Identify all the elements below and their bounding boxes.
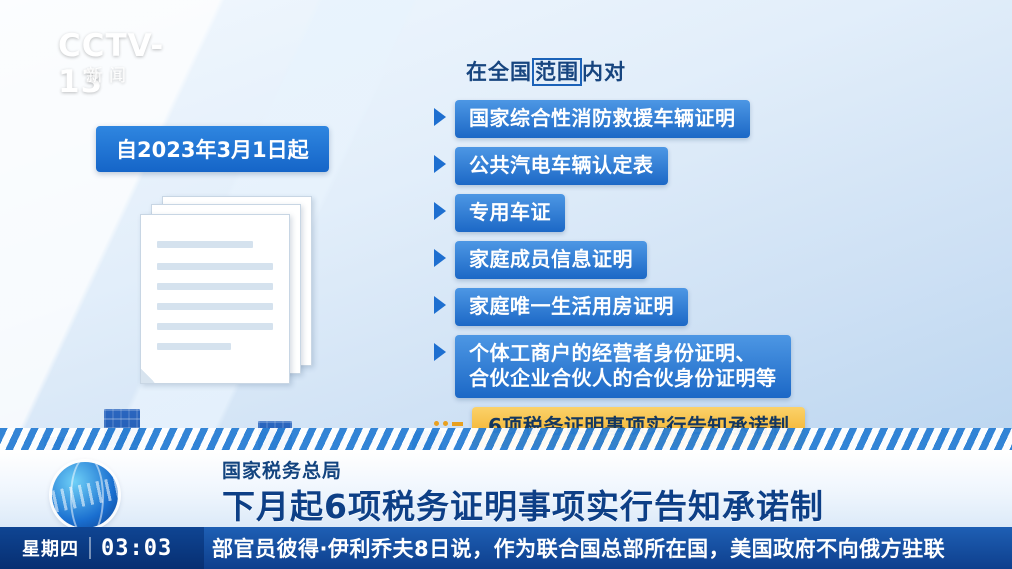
news-ticker: 星期四 03:03 部官员彼得·伊利乔夫8日说，作为联合国总部所在国，美国政府不…: [0, 527, 1012, 569]
lead-suffix: 内对: [582, 60, 626, 84]
ticker-divider: [89, 537, 91, 559]
lead-prefix: 在全国: [466, 60, 532, 84]
channel-logo: CCTV-13 新闻: [58, 28, 208, 82]
list-item: 家庭唯一生活用房证明: [434, 288, 904, 326]
list-item-label: 家庭唯一生活用房证明: [455, 288, 688, 326]
list-item: 家庭成员信息证明: [434, 241, 904, 279]
lead-boxed-word: 范围: [532, 58, 582, 86]
list-item-label: 公共汽电车辆认定表: [455, 147, 668, 185]
ticker-time: 03:03: [101, 536, 172, 561]
triangle-bullet-icon: [434, 343, 446, 361]
date-pill: 自2023年3月1日起: [96, 126, 329, 172]
graphic-item-list: 国家综合性消防救援车辆证明 公共汽电车辆认定表 专用车证 家庭成员信息证明 家庭…: [434, 100, 904, 456]
list-item-label: 专用车证: [455, 194, 565, 232]
lower-third-headline: 下月起6项税务证明事项实行告知承诺制: [222, 480, 824, 528]
ticker-clock-block: 星期四 03:03: [0, 527, 204, 569]
triangle-bullet-icon: [434, 249, 446, 267]
globe-icon: [52, 462, 118, 528]
ticker-weekday: 星期四: [22, 535, 79, 561]
broadcast-screenshot: CCTV-13 新闻 自2023年3月1日起 在全国范围内对 国家综合性消防救援…: [0, 0, 1012, 569]
channel-logo-text: CCTV-13: [58, 28, 208, 100]
triangle-bullet-icon: [434, 108, 446, 126]
list-item: 专用车证: [434, 194, 904, 232]
decorative-stripe-band: [0, 428, 1012, 450]
dotted-leader-icon: [434, 421, 468, 426]
list-item: 国家综合性消防救援车辆证明: [434, 100, 904, 138]
document-sheet-front: [140, 214, 290, 384]
triangle-bullet-icon: [434, 155, 446, 173]
channel-logo-subtext: 新闻: [86, 61, 132, 86]
document-stack-graphic: [140, 196, 340, 396]
lower-third-kicker: 国家税务总局: [222, 456, 342, 483]
triangle-bullet-icon: [434, 202, 446, 220]
triangle-bullet-icon: [434, 296, 446, 314]
list-item-label: 国家综合性消防救援车辆证明: [455, 100, 750, 138]
list-item: 个体工商户的经营者身份证明、 合伙企业合伙人的合伙身份证明等: [434, 335, 904, 398]
graphic-lead-line: 在全国范围内对: [466, 56, 626, 86]
ticker-text: 部官员彼得·伊利乔夫8日说，作为联合国总部所在国，美国政府不向俄方驻联: [212, 527, 1012, 569]
list-item-label: 个体工商户的经营者身份证明、 合伙企业合伙人的合伙身份证明等: [455, 335, 791, 398]
list-item: 公共汽电车辆认定表: [434, 147, 904, 185]
list-item-label: 家庭成员信息证明: [455, 241, 647, 279]
